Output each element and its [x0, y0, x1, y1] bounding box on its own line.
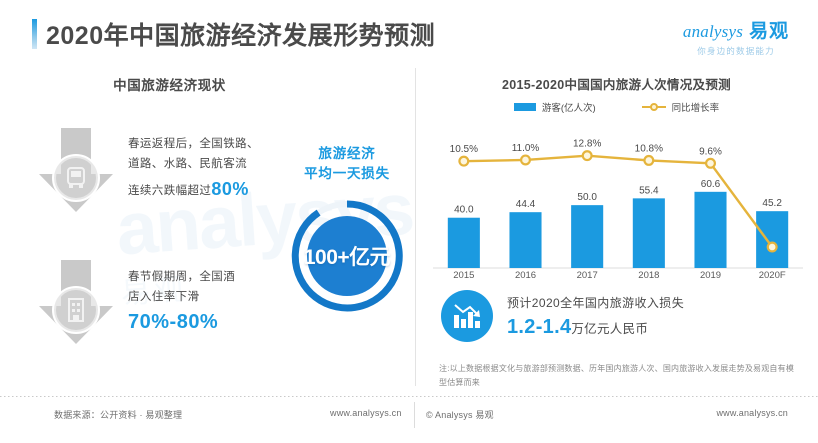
callout-value: 1.2-1.4: [507, 316, 571, 338]
brand-name-cn: 易观: [749, 16, 789, 43]
chart-title: 2015-2020中国国内旅游人次情况及预测: [415, 74, 818, 93]
stat-value-transport: 80%: [211, 179, 249, 199]
legend-line-swatch: [642, 102, 666, 112]
chart-legend: 游客(亿人次) 同比增长率: [415, 100, 818, 114]
x-axis-tick: 2015: [433, 270, 495, 281]
callout-line1: 预计2020全年国内旅游收入损失: [507, 294, 684, 311]
legend-bar-swatch: [514, 103, 536, 111]
footer-url-right[interactable]: www.analysys.cn: [716, 408, 788, 418]
footer-url-left[interactable]: www.analysys.cn: [330, 408, 402, 418]
svg-text:12.8%: 12.8%: [573, 139, 601, 150]
chart-plot-area: 40.044.450.055.460.645.210.5%11.0%12.8%1…: [433, 118, 803, 270]
right-panel: 2015-2020中国国内旅游人次情况及预测 游客(亿人次) 同比增长率 40.…: [415, 62, 818, 392]
svg-text:11.0%: 11.0%: [512, 143, 540, 154]
page-header: 2020年中国旅游经济发展形势预测 analysys 易观 你身边的数据能力: [0, 0, 818, 62]
x-axis-tick: 2019: [680, 270, 742, 281]
donut-caption-line1: 旅游经济: [282, 144, 412, 164]
legend-label-line: 同比增长率: [672, 100, 720, 114]
svg-text:50.0: 50.0: [577, 192, 597, 203]
svg-text:60.6: 60.6: [701, 179, 721, 190]
svg-text:40.0: 40.0: [454, 205, 474, 216]
stat-line-3-prefix: 连续六跌幅超过: [128, 185, 211, 197]
x-axis-tick: 2020F: [741, 270, 803, 281]
svg-text:10.5%: 10.5%: [450, 144, 478, 155]
footer-vertical-divider: [414, 402, 415, 428]
chart-footnote: 注:以上数据根据文化与旅游部预测数据、历年国内旅游人次、国内旅游收入发展走势及易…: [439, 362, 799, 390]
donut-caption-line2: 平均一天损失: [282, 164, 412, 184]
svg-text:9.6%: 9.6%: [699, 146, 722, 157]
stat-block-transport: 春运返程后，全国铁路、 道路、水路、民航客流 连续六跌幅超过80%: [28, 122, 259, 218]
donut-value: 100+亿元: [288, 197, 406, 315]
panel-divider: [415, 68, 416, 386]
down-arrow-train-icon: [28, 122, 124, 218]
brand-tagline: 你身边的数据能力: [668, 45, 804, 57]
declining-bar-chart-icon: [441, 290, 493, 342]
left-panel: 中国旅游经济现状 春运返程后，全国铁路、 道路、水路、民航客流 连续六跌幅超过8…: [0, 62, 415, 392]
svg-text:10.8%: 10.8%: [635, 143, 663, 154]
x-axis-tick: 2017: [556, 270, 618, 281]
svg-text:45.2: 45.2: [762, 198, 782, 209]
svg-text:44.4: 44.4: [516, 199, 536, 210]
legend-label-bar: 游客(亿人次): [542, 100, 596, 114]
down-arrow-hotel-icon: [28, 254, 124, 350]
revenue-loss-callout: 预计2020全年国内旅游收入损失 1.2-1.4万亿元人民币: [441, 290, 684, 342]
brand-logo: analysys 易观 你身边的数据能力: [668, 16, 804, 57]
stat-line-1: 春运返程后，全国铁路、: [128, 134, 259, 154]
footer-divider-line: [0, 396, 818, 397]
legend-item-bar: 游客(亿人次): [514, 100, 596, 114]
brand-name-en: analysys: [683, 22, 743, 42]
x-axis-tick: 2016: [495, 270, 557, 281]
svg-text:55.4: 55.4: [639, 185, 659, 196]
footer-source: 数据来源：公开资料 · 易观整理: [54, 408, 182, 421]
chart-x-axis: 201520162017201820192020F: [433, 270, 803, 281]
page-footer: 数据来源：公开资料 · 易观整理 www.analysys.cn © Analy…: [0, 396, 818, 443]
stat-line-2: 道路、水路、民航客流: [128, 154, 259, 174]
stat-line-1: 春节假期周，全国酒: [128, 267, 235, 287]
tourism-loss-donut: 旅游经济 平均一天损失 100+亿元: [282, 144, 412, 359]
footer-copyright: © Analysys 易观: [426, 408, 494, 421]
stat-block-hotel: 春节假期周，全国酒 店入住率下滑 70%-80%: [28, 254, 235, 350]
callout-unit: 万亿元人民币: [571, 322, 648, 336]
left-section-title: 中国旅游经济现状: [0, 74, 377, 94]
title-accent-bar: [32, 19, 37, 49]
stat-value-hotel: 70%-80%: [128, 307, 235, 337]
stat-line-2: 店入住率下滑: [128, 287, 235, 307]
legend-item-line: 同比增长率: [642, 100, 720, 114]
page-title: 2020年中国旅游经济发展形势预测: [46, 16, 435, 52]
x-axis-tick: 2018: [618, 270, 680, 281]
